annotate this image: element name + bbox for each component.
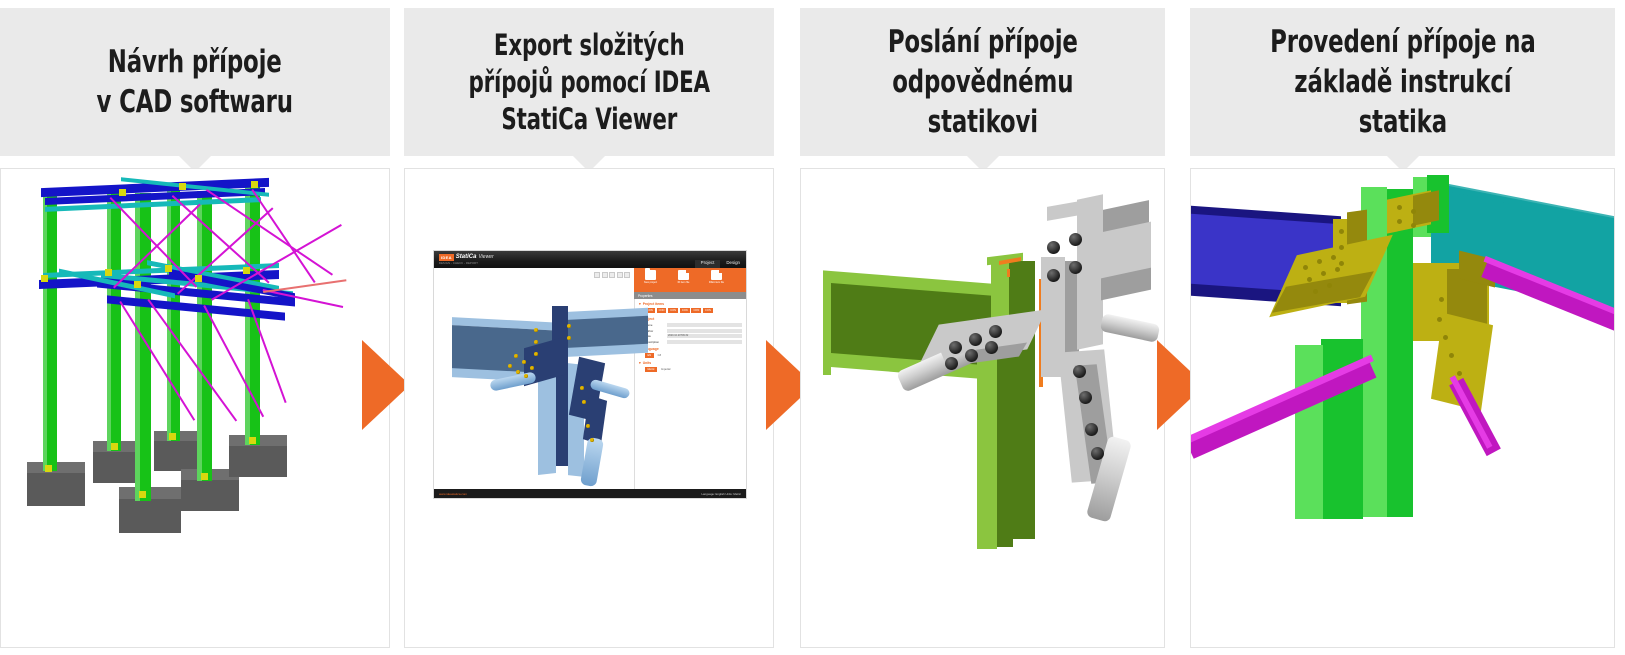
idea-badge: IDEA	[439, 254, 454, 261]
step-body-1	[0, 168, 390, 648]
ribbon-label-3: IDEA item file	[700, 281, 733, 284]
viewer-menu: Project Design	[695, 251, 746, 268]
group-project: ▾ Project Name Author Date	[639, 317, 742, 344]
units-option-imperial[interactable]: Imperial	[659, 367, 672, 372]
view-tool-buttons	[594, 272, 630, 278]
step-header-4: Provedení přípoje na základě instrukcí s…	[1190, 8, 1615, 156]
chevron-down-icon[interactable]: ▾	[639, 361, 641, 365]
step-body-3	[800, 168, 1165, 648]
step-header-1: Návrh přípoje v CAD softwaru	[0, 8, 390, 156]
field-row-date: Date 2020.10.20T09:32	[639, 334, 742, 338]
cad-joint-closeup	[1191, 169, 1614, 647]
project-item-chip[interactable]: CON	[691, 308, 701, 313]
view-iso-icon[interactable]	[617, 272, 623, 278]
arrow-step1-to-step2	[362, 340, 410, 430]
viewer-footer: www.ideastatica.com Language: English Un…	[434, 489, 746, 498]
ribbon-ir-item-file-button[interactable]: IR item file	[667, 270, 700, 284]
step-header-3: Poslání přípoje odpovědnému statikovi	[800, 8, 1165, 156]
group-title-units: Units	[643, 361, 651, 365]
viewer-tagline: DESIGN - CHECK - REPORT	[439, 262, 478, 265]
ribbon-new-project-button[interactable]: New project	[634, 270, 667, 284]
field-row-description: Description	[639, 340, 742, 344]
viewer-product-name: StatiCa	[456, 254, 477, 261]
view-front-icon[interactable]	[594, 272, 600, 278]
field-label-name: Name	[645, 323, 667, 327]
view-side-icon[interactable]	[609, 272, 615, 278]
field-row-author: Author	[639, 329, 742, 333]
file-icon	[678, 270, 689, 280]
viewer-logo: IDEA StatiCa Viewer	[439, 254, 494, 261]
units-option-metric[interactable]: Metric	[645, 367, 657, 372]
group-project-items: ▾ Project items CON CON CON CON CON CON	[639, 302, 742, 314]
field-row-name: Name	[639, 323, 742, 327]
step-card-4: Provedení přípoje na základě instrukcí s…	[1190, 0, 1615, 655]
ribbon-label-1: New project	[634, 281, 667, 284]
idea-statica-viewer-window: IDEA StatiCa Viewer DESIGN - CHECK - REP…	[434, 251, 746, 498]
project-item-chips: CON CON CON CON CON CON	[639, 308, 742, 314]
step-card-3: Poslání přípoje odpovědnému statikovi	[800, 0, 1165, 655]
group-title-project-items: Project items	[643, 302, 664, 306]
viewer-titlebar: IDEA StatiCa Viewer DESIGN - CHECK - REP…	[434, 251, 746, 268]
chevron-down-icon[interactable]: ▾	[639, 302, 641, 306]
project-item-chip[interactable]: CON	[680, 308, 690, 313]
viewer-module-name: Viewer	[478, 254, 493, 261]
field-input-description[interactable]	[667, 340, 742, 344]
viewer-3d-canvas[interactable]	[434, 268, 634, 489]
steel-connection-render	[801, 169, 1164, 647]
step-card-2: Export složitých přípojů pomocí IDEA Sta…	[404, 0, 774, 655]
folder-icon	[645, 270, 656, 280]
project-item-chip[interactable]: CON	[703, 308, 713, 313]
menu-tab-design[interactable]: Design	[720, 260, 746, 268]
view-fit-icon[interactable]	[624, 272, 630, 278]
language-toggle: EN CZ	[639, 353, 742, 358]
properties-panel: ▾ Project items CON CON CON CON CON CON	[634, 299, 746, 489]
viewer-website-link[interactable]: www.ideastatica.com	[439, 492, 467, 496]
project-item-chip[interactable]: CON	[657, 308, 667, 313]
group-units: ▾ Units Metric Imperial	[639, 361, 742, 372]
viewer-status-text: Language: English Units: Metric	[702, 492, 742, 496]
step-body-4	[1190, 168, 1615, 648]
units-toggle: Metric Imperial	[639, 367, 742, 372]
cad-structural-frame-model	[1, 169, 389, 647]
step-card-1: Návrh přípoje v CAD softwaru	[0, 0, 390, 655]
language-option-cz[interactable]: CZ	[656, 353, 663, 358]
ribbon-idea-item-file-button[interactable]: IDEA item file	[700, 270, 733, 284]
step-title-3: Poslání přípoje odpovědnému statikovi	[888, 22, 1078, 142]
properties-panel-header: Properties	[634, 292, 746, 299]
field-input-name[interactable]	[667, 323, 742, 327]
group-language: ▾ Language EN CZ	[639, 347, 742, 358]
file-icon	[711, 270, 722, 280]
step-title-1: Návrh přípoje v CAD softwaru	[97, 42, 293, 122]
process-flow-diagram: Návrh přípoje v CAD softwaru	[0, 0, 1625, 655]
viewer-ribbon: New project IR item file IDEA item file	[634, 268, 746, 292]
step-title-4: Provedení přípoje na základě instrukcí s…	[1270, 22, 1535, 142]
step-body-2: IDEA StatiCa Viewer DESIGN - CHECK - REP…	[404, 168, 774, 648]
language-option-en[interactable]: EN	[645, 353, 654, 358]
step-title-2: Export složitých přípojů pomocí IDEA Sta…	[468, 27, 709, 138]
menu-tab-project[interactable]: Project	[695, 260, 721, 268]
field-label-author: Author	[645, 329, 667, 333]
step-header-2: Export složitých přípojů pomocí IDEA Sta…	[404, 8, 774, 156]
field-label-date: Date	[645, 334, 667, 338]
field-label-description: Description	[645, 340, 667, 344]
view-top-icon[interactable]	[602, 272, 608, 278]
project-item-chip[interactable]: CON	[668, 308, 678, 313]
field-input-date[interactable]: 2020.10.20T09:32	[667, 334, 742, 338]
ribbon-label-2: IR item file	[667, 281, 700, 284]
field-input-author[interactable]	[667, 329, 742, 333]
